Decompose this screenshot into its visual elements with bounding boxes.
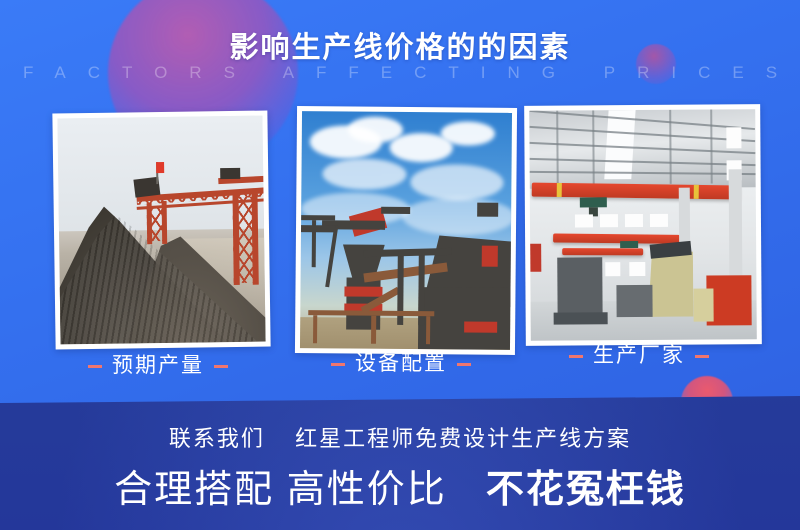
photo-caption-3: 生产厂家 (524, 340, 754, 372)
photo-card-1[interactable] (52, 111, 270, 350)
footer-slogan-bold: 不花冤枉钱 (486, 469, 686, 511)
dash-right-icon (214, 365, 228, 368)
footer-line-1: 联系我们 红星工程师免费设计生产线方案 (0, 421, 800, 453)
dash-left-icon (331, 363, 345, 366)
factory-workshop-photo (529, 109, 757, 341)
dash-left-icon (569, 355, 583, 358)
page-title: 影响生产线价格的的因素 (0, 24, 800, 66)
footer-service-text: 红星工程师免费设计生产线方案 (295, 426, 631, 451)
photo-card-3[interactable] (524, 104, 762, 346)
poster: 影响生产线价格的的因素 FACTORS AFFECTING PRICES (0, 0, 800, 530)
dash-right-icon (457, 363, 471, 366)
photo-caption-2: 设备配置 (290, 348, 512, 380)
dash-right-icon (695, 355, 709, 358)
photo-caption-1: 预期产量 (44, 350, 272, 382)
footer-slogan-normal: 合理搭配 高性价比 (114, 469, 447, 511)
photo-card-2[interactable] (295, 106, 517, 355)
footer-contact-label: 联系我们 (169, 426, 265, 451)
caption-text: 设备配置 (355, 348, 447, 380)
footer-line-2: 合理搭配 高性价比 不花冤枉钱 (0, 458, 800, 513)
caption-text: 生产厂家 (593, 340, 685, 372)
dash-left-icon (88, 365, 102, 368)
caption-text: 预期产量 (112, 350, 204, 382)
photo-gallery (0, 103, 800, 348)
aggregate-stockpile-photo (57, 116, 265, 345)
crushing-plant-photo (300, 111, 512, 350)
page-subtitle: FACTORS AFFECTING PRICES (0, 63, 800, 83)
